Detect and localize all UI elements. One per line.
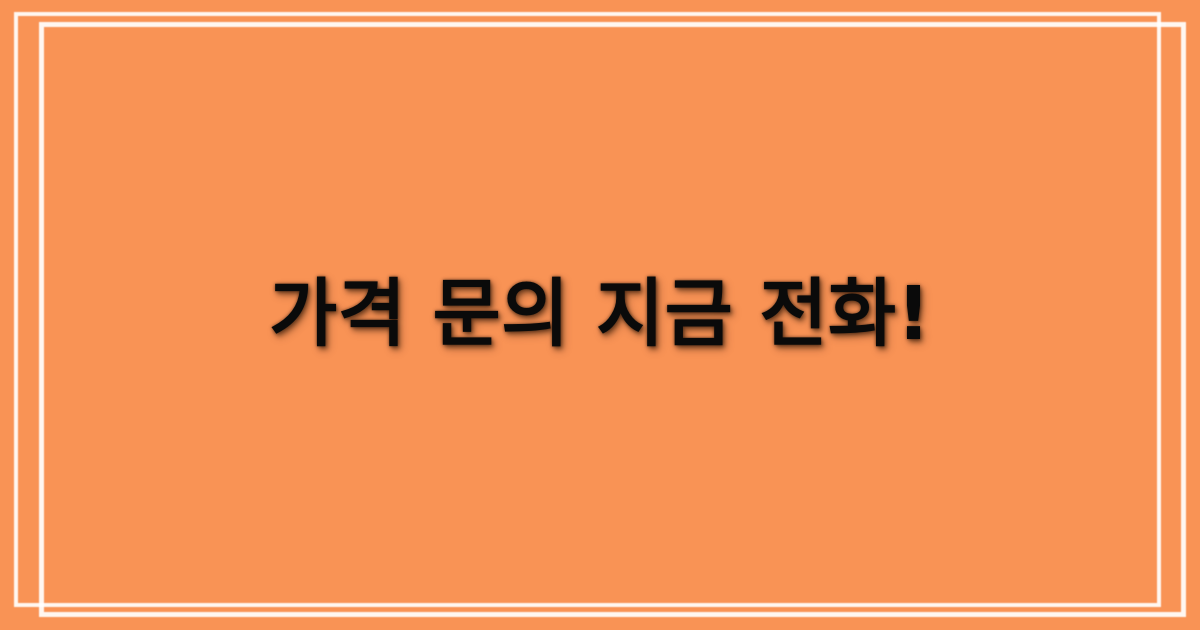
banner-headline: 가격 문의 지금 전화! xyxy=(209,272,991,357)
promo-banner: 가격 문의 지금 전화! xyxy=(0,0,1200,630)
headline-container: 가격 문의 지금 전화! xyxy=(0,0,1200,630)
